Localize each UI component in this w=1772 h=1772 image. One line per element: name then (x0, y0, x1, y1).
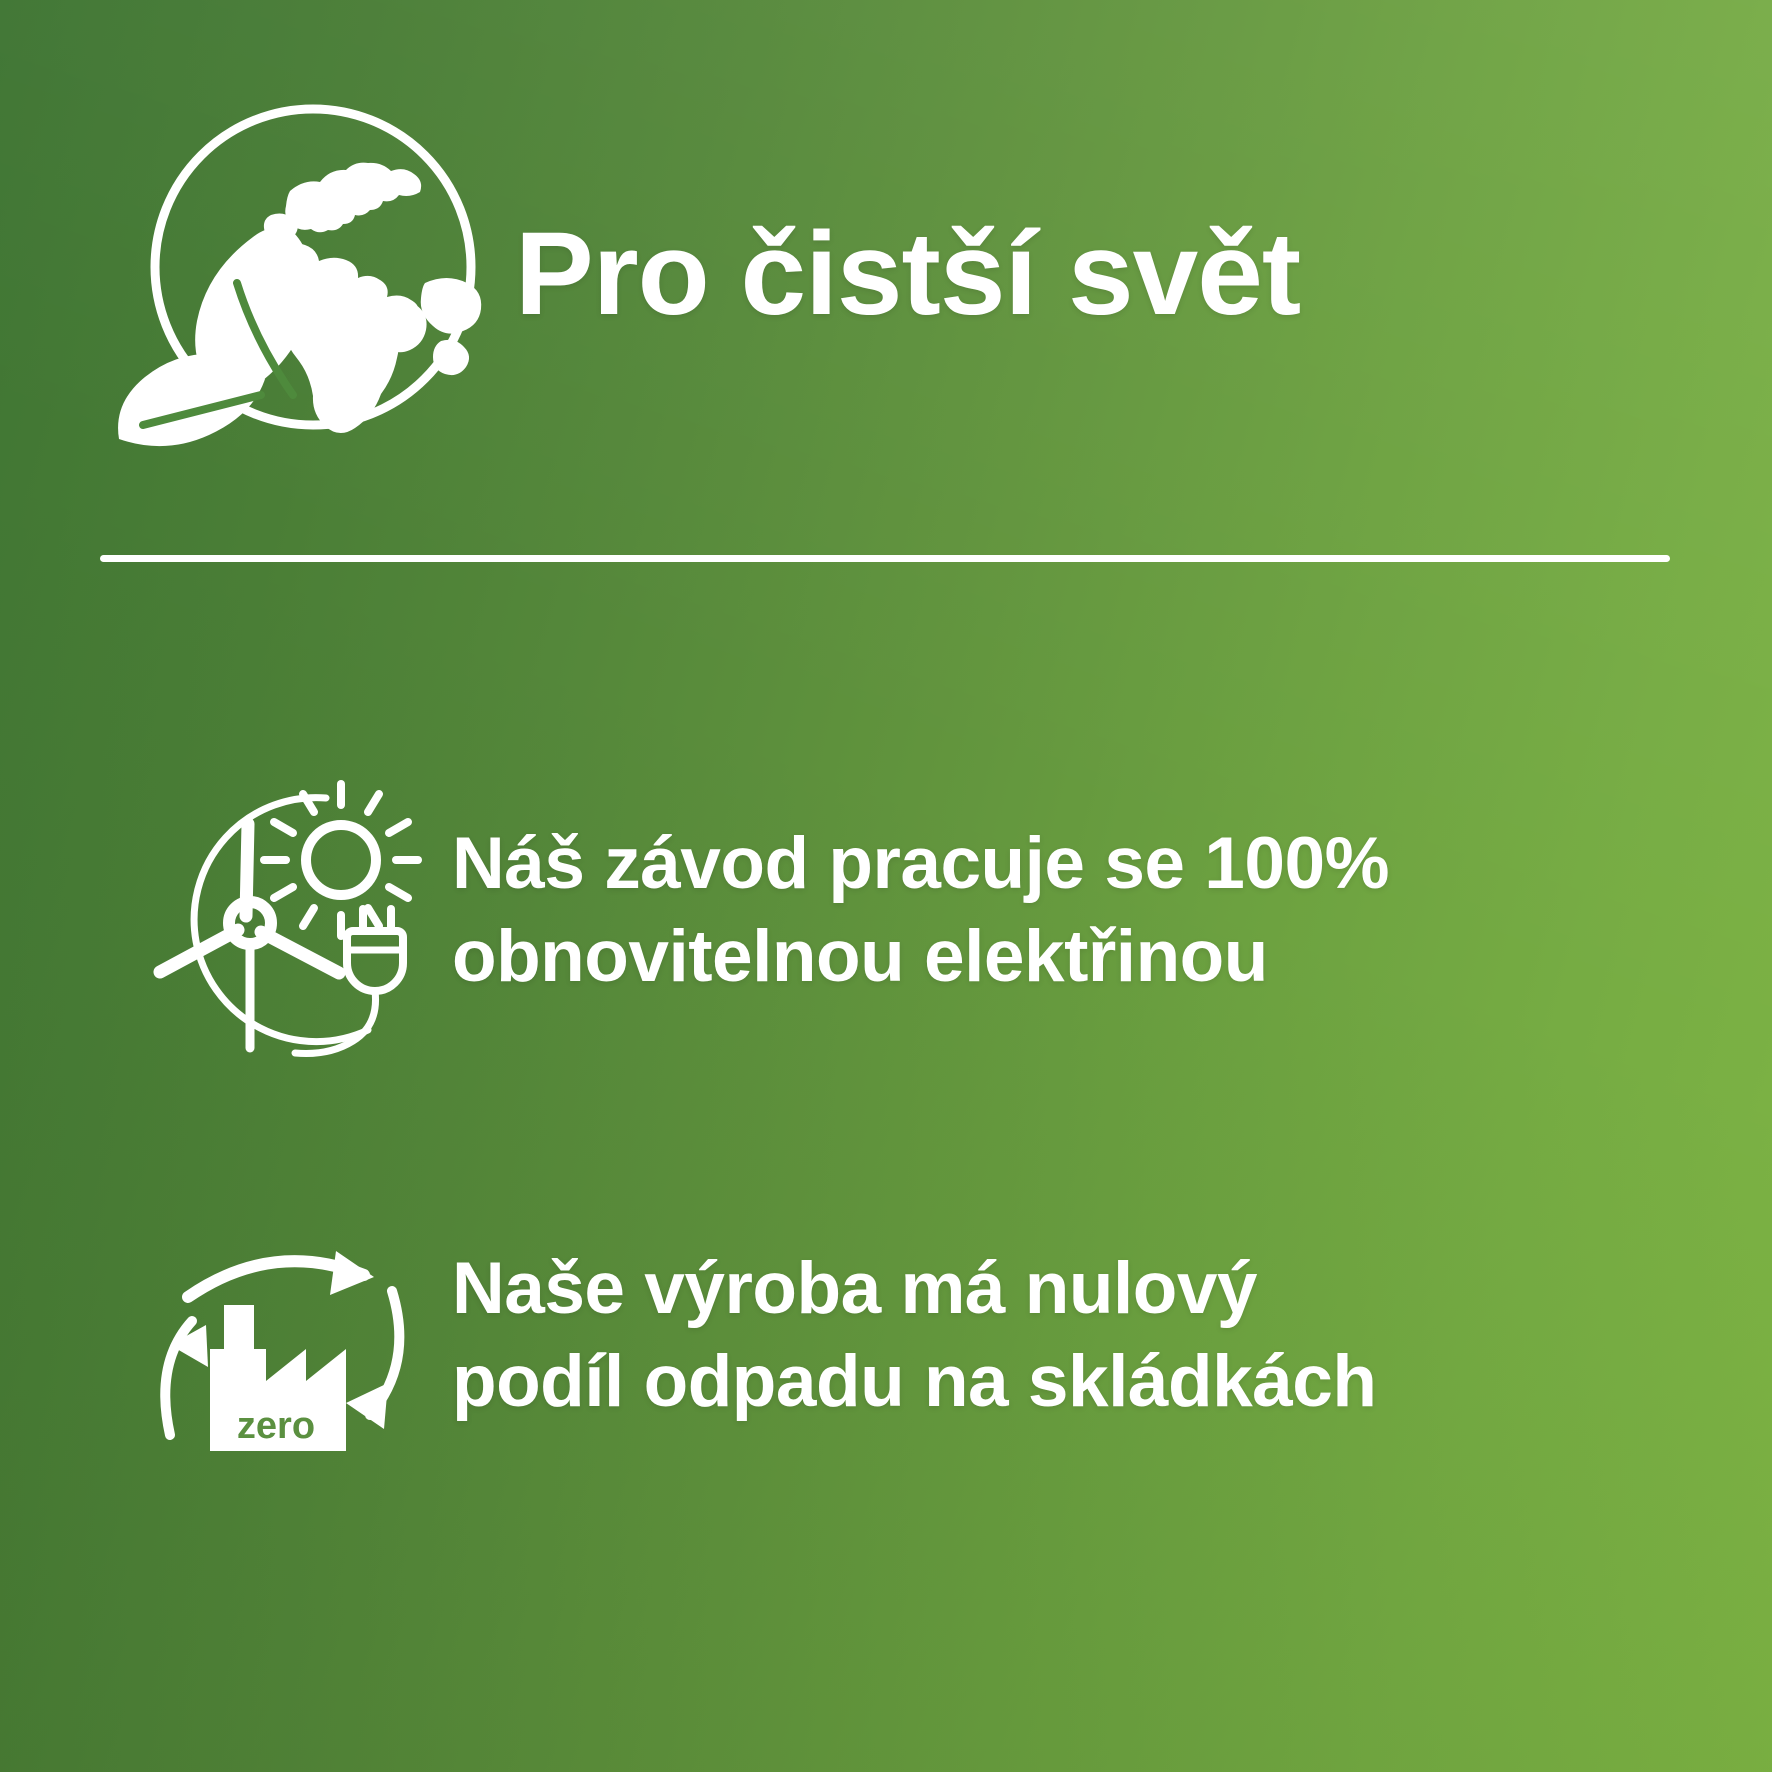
zero-waste-factory-recycle-icon: zero (130, 1185, 430, 1485)
globe-leaf-icon (85, 95, 505, 455)
feature-zero-waste-text: Naše výroba má nulový podíl odpadu na sk… (452, 1242, 1377, 1429)
wind-turbine-sun-plug-icon (130, 760, 430, 1060)
feature-text-line: Naše výroba má nulový (452, 1242, 1377, 1335)
feature-text-line: podíl odpadu na skládkách (452, 1335, 1377, 1428)
feature-text-line: obnovitelnou elektřinou (452, 910, 1389, 1003)
feature-renewable-energy: Náš závod pracuje se 100% obnovitelnou e… (130, 755, 1750, 1065)
header: Pro čistší svět (85, 95, 1685, 455)
poster-canvas: Pro čistší svět (0, 0, 1772, 1772)
feature-text-line: Náš závod pracuje se 100% (452, 817, 1389, 910)
feature-zero-waste: zero Naše výroba má nulový podíl odpadu … (130, 1185, 1750, 1485)
factory-zero-label: zero (237, 1405, 315, 1447)
feature-renewable-energy-text: Náš závod pracuje se 100% obnovitelnou e… (452, 817, 1389, 1004)
divider-rule (100, 555, 1670, 562)
page-title: Pro čistší svět (515, 213, 1300, 337)
